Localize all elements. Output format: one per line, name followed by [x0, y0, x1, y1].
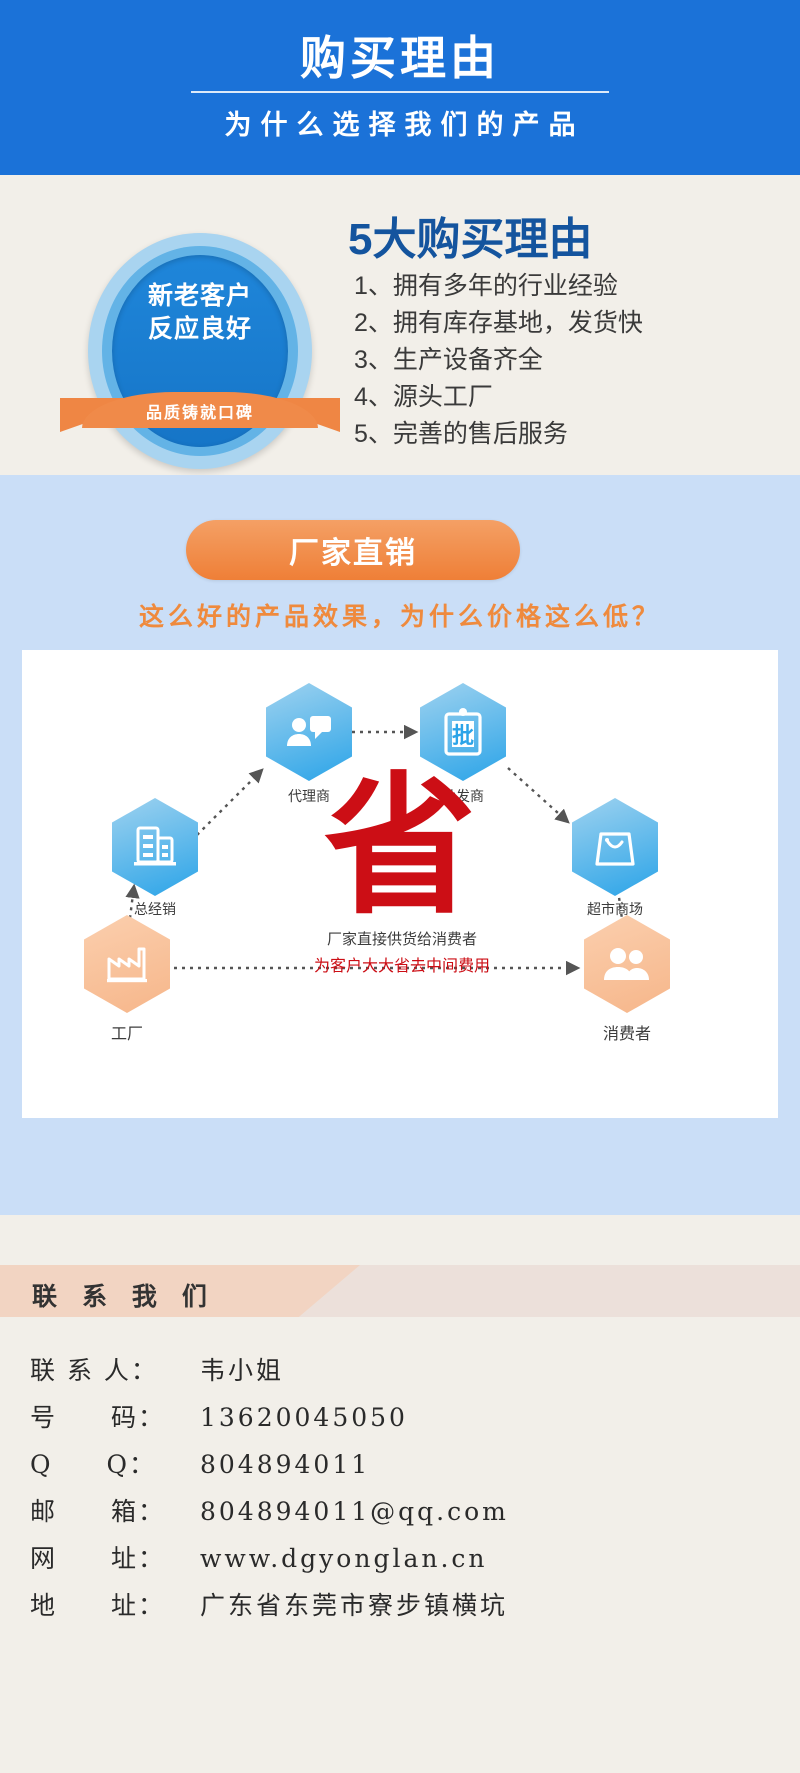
list-item-number: 4、 [354, 379, 393, 416]
contact-value[interactable]: www.dgyonglan.cn [200, 1544, 488, 1573]
list-item-text: 源头工厂 [393, 383, 493, 411]
building-icon [131, 824, 179, 870]
contact-banner-title: 联 系 我 们 [32, 1277, 216, 1313]
list-item: 1、拥有多年的行业经验 [354, 268, 784, 305]
seal-ribbon-label: 品质铸就口碑 [60, 399, 340, 423]
list-item-number: 1、 [354, 268, 393, 305]
contact-row-person: 联 系 人：韦小姐 [30, 1347, 770, 1394]
diagram-note: 厂家直接供货给消费者 [202, 928, 602, 949]
node-label-supermarket: 超市商场 [545, 899, 685, 919]
contact-row-email: 邮 箱：804894011@qq.com [30, 1488, 770, 1535]
list-item-number: 2、 [354, 305, 393, 342]
contact-label: 网 址： [30, 1535, 200, 1582]
node-label-factory: 工厂 [57, 1020, 197, 1044]
reasons-heading: 5大购买理由 [348, 203, 592, 267]
seal-line-1: 新老客户 [112, 280, 288, 313]
list-item-text: 生产设备齐全 [393, 346, 543, 374]
page-subtitle: 为什么选择我们的产品 [216, 103, 585, 142]
promo-page: 购买理由 为什么选择我们的产品 新老客户 反应良好 品质铸就口碑 5大购买理由 … [0, 0, 800, 1773]
contact-rows: 联 系 人：韦小姐 号 码：13620045050 Q Q：804894011 … [30, 1347, 770, 1629]
list-item: 2、拥有库存基地，发货快 [354, 305, 784, 342]
shopping-bag-icon [593, 824, 637, 870]
page-header: 购买理由 为什么选择我们的产品 [0, 0, 800, 175]
contact-label: 邮 箱： [30, 1488, 200, 1535]
list-item-text: 拥有多年的行业经验 [393, 272, 618, 300]
contact-value: 韦小姐 [200, 1356, 284, 1385]
header-divider [191, 91, 609, 93]
node-label-general-distributor: 总经销 [85, 899, 225, 919]
list-item: 4、源头工厂 [354, 379, 784, 416]
page-title: 购买理由 [300, 33, 500, 84]
contact-row-qq: Q Q：804894011 [30, 1441, 770, 1488]
svg-text:批: 批 [452, 724, 474, 749]
contact-row-phone: 号 码：13620045050 [30, 1394, 770, 1441]
quality-seal-badge: 新老客户 反应良好 品质铸就口碑 [60, 225, 340, 480]
node-label-consumer: 消费者 [557, 1020, 697, 1044]
list-item: 5、完善的售后服务 [354, 416, 784, 453]
reasons-list: 1、拥有多年的行业经验 2、拥有库存基地，发货快 3、生产设备齐全 4、源头工厂… [354, 268, 784, 453]
list-item-text: 拥有库存基地，发货快 [393, 309, 643, 337]
contact-section: 联 系 我 们 联 系 人：韦小姐 号 码：13620045050 Q Q：80… [0, 1215, 800, 1773]
seal-text: 新老客户 反应良好 [112, 280, 288, 346]
reasons-section: 新老客户 反应良好 品质铸就口碑 5大购买理由 1、拥有多年的行业经验 2、拥有… [0, 175, 800, 475]
list-item-number: 5、 [354, 416, 393, 453]
contact-label: 地 址： [30, 1582, 200, 1629]
list-item-number: 3、 [354, 342, 393, 379]
direct-sales-section: 厂家直销 这么好的产品效果，为什么价格这么低？ [0, 475, 800, 1215]
diagram-note-highlight: 为客户大大省去中间费用 [202, 952, 602, 976]
contact-value: 广东省东莞市寮步镇横坑 [200, 1591, 508, 1620]
save-character: 省 [290, 770, 510, 922]
direct-sales-question: 这么好的产品效果，为什么价格这么低？ [0, 597, 800, 633]
supply-chain-diagram: 代理商 批 批发商 [22, 650, 778, 1118]
contact-label: 号 码： [30, 1394, 200, 1441]
contact-label: 联 系 人： [30, 1347, 200, 1394]
factory-direct-button[interactable]: 厂家直销 [186, 520, 520, 580]
contact-label: Q Q： [30, 1441, 200, 1488]
consumers-icon [602, 944, 652, 984]
clipboard-pi-icon: 批 [441, 707, 485, 757]
factory-icon [104, 943, 150, 985]
list-item: 3、生产设备齐全 [354, 342, 784, 379]
agent-chat-icon [284, 710, 334, 754]
seal-line-2: 反应良好 [112, 313, 288, 346]
contact-value: 13620045050 [200, 1403, 408, 1432]
list-item-text: 完善的售后服务 [393, 420, 568, 448]
contact-value: 804894011 [200, 1450, 370, 1479]
contact-row-address: 地 址：广东省东莞市寮步镇横坑 [30, 1582, 770, 1629]
contact-value: 804894011@qq.com [200, 1497, 509, 1526]
contact-row-website[interactable]: 网 址：www.dgyonglan.cn [30, 1535, 770, 1582]
